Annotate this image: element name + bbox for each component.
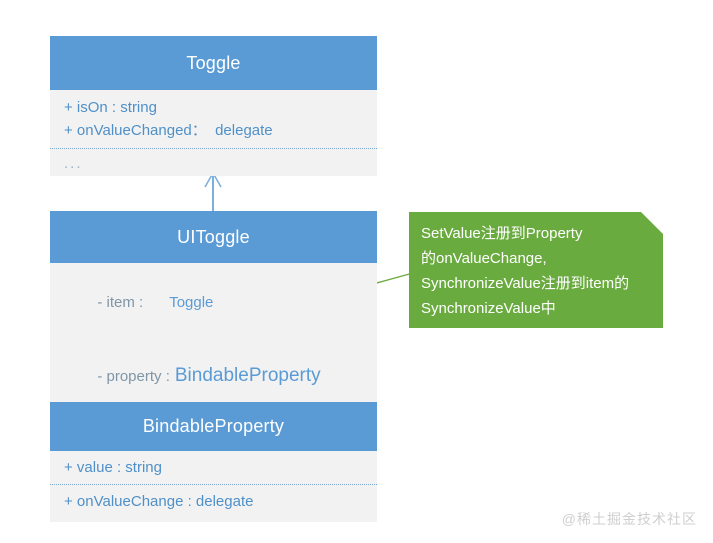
class-attributes-uitoggle: - item :Toggle - property :BindablePrope… [50, 263, 377, 419]
note-line: SetValue注册到Property [421, 221, 653, 246]
note-line: SynchronizeValue注册到item的 [421, 271, 653, 296]
note-text: SetValue注册到Property 的onValueChange, Sync… [421, 221, 653, 321]
uml-class-bindableproperty[interactable]: BindableProperty + value : string + onVa… [50, 402, 377, 522]
class-attributes-bindableproperty: + value : string [50, 451, 377, 484]
class-attributes-toggle: + isOn : string + onValueChanged： delega… [50, 90, 377, 148]
watermark: @稀土掘金技术社区 [562, 509, 697, 529]
diagram-canvas: Toggle + isOn : string + onValueChanged：… [0, 0, 713, 543]
class-title-bindableproperty: BindableProperty [50, 402, 377, 451]
attribute-row: + isOn : string [64, 96, 377, 119]
class-title-toggle: Toggle [50, 36, 377, 90]
attribute-name: - item : [97, 294, 143, 311]
attribute-type: Toggle [143, 294, 213, 311]
attribute-type: BindableProperty [170, 365, 321, 386]
attribute-row: + onValueChanged： delegate [64, 119, 377, 142]
class-operations-bindableproperty: + onValueChange : delegate [50, 484, 377, 522]
uml-class-toggle[interactable]: Toggle + isOn : string + onValueChanged：… [50, 36, 377, 176]
attribute-row: + value : string [64, 456, 377, 479]
note-line: SynchronizeValue中 [421, 296, 653, 321]
attribute-name: - property : [97, 368, 170, 385]
class-operations-toggle: ... [50, 148, 377, 176]
operation-row: ... [64, 152, 377, 175]
annotation-note[interactable]: SetValue注册到Property 的onValueChange, Sync… [409, 212, 663, 328]
attribute-row: - item :Toggle [64, 268, 377, 337]
class-title-uitoggle: UIToggle [50, 211, 377, 263]
note-line: 的onValueChange, [421, 246, 653, 271]
operation-row: + onValueChange : delegate [64, 490, 377, 513]
